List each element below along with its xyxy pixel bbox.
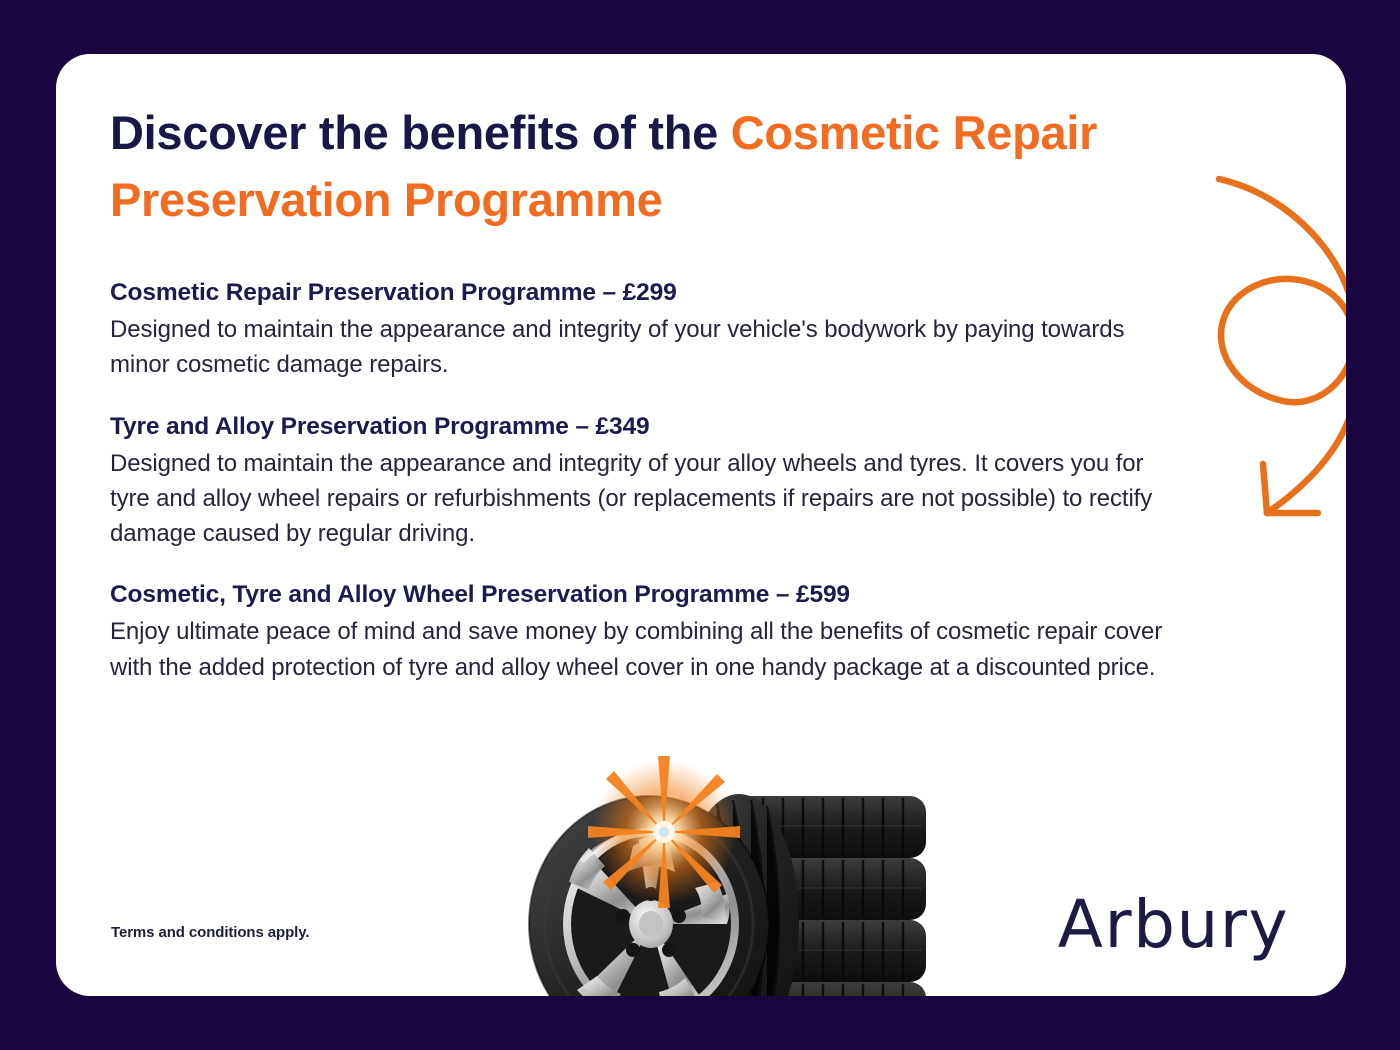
programme-item: Cosmetic, Tyre and Alloy Wheel Preservat… bbox=[110, 581, 1165, 685]
programme-item: Tyre and Alloy Preservation Programme – … bbox=[110, 413, 1165, 552]
programme-title: Cosmetic Repair Preservation Programme –… bbox=[110, 279, 1165, 307]
programme-title: Cosmetic, Tyre and Alloy Wheel Preservat… bbox=[110, 581, 1165, 609]
programme-body: Designed to maintain the appearance and … bbox=[110, 446, 1165, 552]
terms-and-conditions: Terms and conditions apply. bbox=[111, 924, 309, 941]
orange-sparkle-icon bbox=[588, 756, 740, 908]
promo-card: Discover the benefits of the Cosmetic Re… bbox=[56, 54, 1346, 996]
programme-list: Cosmetic Repair Preservation Programme –… bbox=[110, 279, 1165, 685]
arbury-logo: Arbury bbox=[1058, 892, 1289, 958]
programme-body: Enjoy ultimate peace of mind and save mo… bbox=[110, 614, 1165, 685]
page-title: Discover the benefits of the Cosmetic Re… bbox=[110, 100, 1180, 233]
tyre-stack-image bbox=[511, 754, 941, 996]
programme-title: Tyre and Alloy Preservation Programme – … bbox=[110, 413, 1165, 441]
programme-body: Designed to maintain the appearance and … bbox=[110, 312, 1165, 383]
page-title-part-navy: Discover the benefits of the bbox=[110, 106, 731, 159]
programme-item: Cosmetic Repair Preservation Programme –… bbox=[110, 279, 1165, 383]
